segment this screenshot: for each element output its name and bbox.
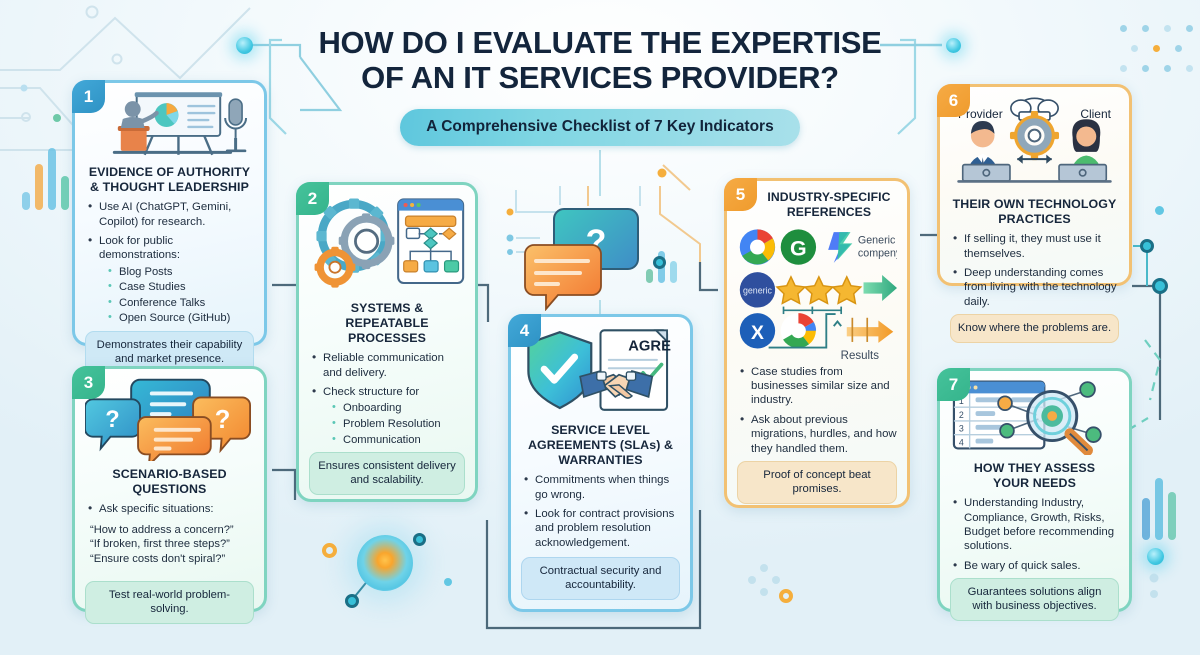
company-logos-stars-results-icon: G Generic compeny generic (737, 224, 897, 352)
speech-bubbles-icon: ? ? (85, 377, 254, 461)
quote-line: “How to address a concern?” (90, 523, 254, 538)
checklist-magnifier-target-icon: 1234 (950, 379, 1119, 455)
svg-text:2: 2 (959, 410, 964, 420)
card-5-title: INDUSTRY-SPECIFIC REFERENCES (761, 190, 897, 220)
list-item: Use AI (ChatGPT, Gemini, Copilot) for re… (88, 200, 254, 229)
title-line-1: HOW DO I EVALUATE THE EXPERTISE (318, 25, 881, 60)
card-4-footnote: Contractual security and accountability. (521, 557, 680, 600)
list-item: Blog Posts (108, 265, 254, 280)
card-4-bullets: Commitments when things go wrong. Look f… (524, 473, 680, 556)
svg-text:4: 4 (959, 437, 964, 447)
card-5-bullets: Case studies from businesses similar siz… (740, 365, 897, 461)
card-6-title: THEIR OWN TECHNOLOGY PRACTICES (950, 197, 1119, 227)
card-7-illustration: 1234 (950, 379, 1119, 455)
card-4-title: SERVICE LEVEL AGREEMENTS (SLAs) & WARRAN… (521, 423, 680, 468)
infographic-canvas: ? HOW DO I EVALUATE THE EXPERTISE OF AN … (0, 0, 1200, 655)
list-item: Onboarding (332, 401, 465, 416)
bullet-text: Ask specific situations: (99, 503, 214, 515)
list-item: Case Studies (108, 280, 254, 295)
card-1-evidence-of-authority[interactable]: 1 (72, 80, 267, 346)
page-title: HOW DO I EVALUATE THE EXPERTISE OF AN IT… (270, 26, 930, 95)
bullet-text: If selling it, they must use it themselv… (964, 233, 1101, 259)
bar-chart-decoration-left (22, 135, 69, 210)
list-item: Ask about previous migrations, hurdles, … (740, 413, 897, 456)
card-6-bullets: If selling it, they must use it themselv… (953, 232, 1119, 314)
card-6-footnote: Know where the problems are. (950, 314, 1119, 343)
svg-text:?: ? (105, 406, 119, 432)
speaker-presentation-icon (85, 91, 254, 159)
bullet-text: Ask about previous migrations, hurdles, … (751, 414, 897, 455)
bullet-text: Reliable communication and delivery. (323, 352, 444, 378)
connector-node-top-right (946, 38, 961, 53)
card-2-number-badge: 2 (296, 182, 329, 215)
card-2-footnote: Ensures consistent delivery and scalabil… (309, 452, 465, 495)
card-7-bullets: Understanding Industry, Compliance, Grow… (953, 496, 1119, 578)
bullet-text: Look for contract provisions and problem… (535, 508, 674, 549)
bullet-text: Deep understanding comes from living wit… (964, 267, 1117, 308)
list-item: Conference Talks (108, 296, 254, 311)
bullet-text: Understanding Industry, Compliance, Grow… (964, 497, 1114, 552)
bullet-text: Check structure for (323, 386, 419, 398)
card-2-sublist: Onboarding Problem Resolution Communicat… (332, 401, 465, 447)
list-item: If selling it, they must use it themselv… (953, 232, 1119, 261)
connector-node-orb-upper (413, 533, 426, 546)
connector-node-bubble (653, 256, 666, 269)
card-3-footnote: Test real-world problem-solving. (85, 581, 254, 624)
svg-text:3: 3 (959, 424, 964, 434)
bullet-text: Look for public demonstrations: (99, 235, 180, 261)
bullet-text: Be wary of quick sales. (964, 560, 1081, 572)
card-5-industry-references[interactable]: 5 INDUSTRY-SPECIFIC REFERENCES G Generic… (724, 178, 910, 508)
card-3-quotes: “How to address a concern?” “If broken, … (90, 523, 254, 567)
ring-decoration-bottom (779, 589, 793, 603)
card-1-illustration (85, 91, 254, 159)
glow-orb-decoration (357, 535, 413, 591)
connector-node-top-left (236, 37, 253, 54)
card-5-footnote: Proof of concept beat promises. (737, 461, 897, 504)
provider-client-gear-icon (950, 91, 1119, 191)
svg-text:G: G (790, 236, 807, 260)
card-7-number-badge: 7 (937, 368, 970, 401)
card-6-number-badge: 6 (937, 84, 970, 117)
card-1-sublist: Blog Posts Case Studies Conference Talks… (108, 265, 254, 326)
list-item: Check structure for Onboarding Problem R… (312, 385, 465, 447)
card-7-footnote: Guarantees solutions align with business… (950, 578, 1119, 621)
header-block: HOW DO I EVALUATE THE EXPERTISE OF AN IT… (270, 26, 930, 146)
quote-line: “If broken, first three steps?” (90, 537, 254, 552)
card-3-illustration: ? ? (85, 377, 254, 461)
card-1-bullets: Use AI (ChatGPT, Gemini, Copilot) for re… (88, 200, 254, 331)
list-item: Reliable communication and delivery. (312, 351, 465, 380)
dot-decoration-right (1155, 206, 1164, 215)
card-4-illustration: AGRE (521, 325, 680, 417)
title-line-2: OF AN IT SERVICES PROVIDER? (361, 60, 839, 95)
list-item: Case studies from businesses similar siz… (740, 365, 897, 408)
card-6-own-technology-practices[interactable]: 6 (937, 84, 1132, 286)
card-2-illustration (309, 193, 465, 295)
svg-text:X: X (751, 322, 764, 344)
card-7-title: HOW THEY ASSESS YOUR NEEDS (950, 461, 1119, 491)
card-3-scenario-questions[interactable]: 3 ? ? (72, 366, 267, 612)
card-5-number-badge: 5 (724, 178, 757, 211)
card-2-systems-processes[interactable]: 2 (296, 182, 478, 502)
list-item: Look for contract provisions and problem… (524, 507, 680, 550)
card-1-number-badge: 1 (72, 80, 105, 113)
gears-workflow-icon (309, 193, 465, 295)
card-1-title: EVIDENCE OF AUTHORITY & THOUGHT LEADERSH… (85, 165, 254, 195)
connector-node-right-upper (1140, 239, 1154, 253)
central-speech-bubbles-icon: ? (524, 205, 652, 311)
shield-handshake-agreement-icon: AGRE (521, 325, 680, 417)
list-item: Understanding Industry, Compliance, Grow… (953, 496, 1119, 553)
svg-text:Generic: Generic (858, 234, 896, 246)
card-6-client-label: Client (1080, 107, 1111, 121)
card-5-illustration: G Generic compeny generic (737, 224, 897, 352)
svg-text:generic: generic (743, 285, 773, 295)
card-3-title: SCENARIO-BASED QUESTIONS (85, 467, 254, 497)
svg-text:compeny: compeny (858, 247, 897, 259)
card-2-bullets: Reliable communication and delivery. Che… (312, 351, 465, 452)
glow-node-right (1147, 548, 1164, 565)
card-3-bullets: Ask specific situations: (88, 502, 254, 521)
bullet-text: Use AI (ChatGPT, Gemini, Copilot) for re… (99, 201, 231, 227)
bullet-text: Case studies from businesses similar siz… (751, 366, 890, 407)
card-5-results-label: Results (737, 350, 879, 362)
list-item: Deep understanding comes from living wit… (953, 266, 1119, 309)
card-4-number-badge: 4 (508, 314, 541, 347)
list-item: Be wary of quick sales. (953, 559, 1119, 573)
card-2-title: SYSTEMS & REPEATABLE PROCESSES (309, 301, 465, 346)
list-item: Commitments when things go wrong. (524, 473, 680, 502)
subtitle-pill: A Comprehensive Checklist of 7 Key Indic… (400, 109, 799, 146)
card-6-illustration: Provider Client (950, 91, 1119, 191)
connector-node-orb (345, 594, 359, 608)
card-7-how-they-assess-needs[interactable]: 7 1234 (937, 368, 1132, 612)
bullet-text: Commitments when things go wrong. (535, 474, 669, 500)
connector-node-right-lower (1152, 278, 1168, 294)
list-item: Problem Resolution (332, 417, 465, 432)
list-item: Ask specific situations: (88, 502, 254, 516)
card-3-number-badge: 3 (72, 366, 105, 399)
list-item: Communication (332, 433, 465, 448)
dot-decoration-center (444, 578, 452, 586)
quote-line: “Ensure costs don't spiral?” (90, 552, 254, 567)
ring-decoration-left (322, 543, 337, 558)
svg-text:?: ? (215, 406, 231, 434)
list-item: Look for public demonstrations: Blog Pos… (88, 234, 254, 326)
svg-text:AGRE: AGRE (628, 339, 671, 355)
list-item: Open Source (GitHub) (108, 311, 254, 326)
card-4-service-level-agreements[interactable]: 4 AGRE (508, 314, 693, 612)
bar-chart-decoration-right (1142, 470, 1176, 540)
